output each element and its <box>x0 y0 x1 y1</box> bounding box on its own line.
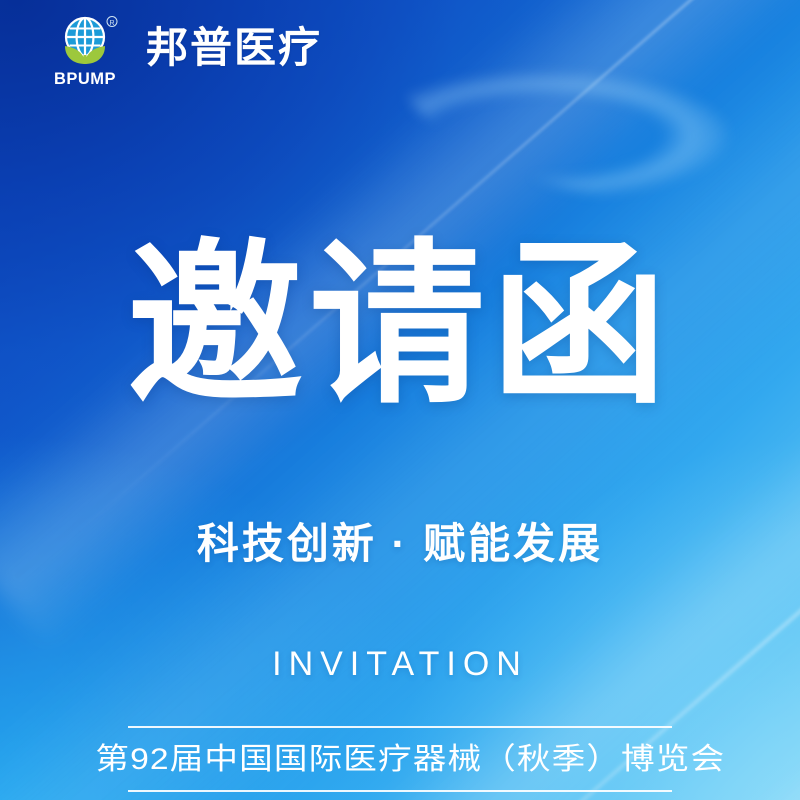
bpump-wordmark: BPUMP <box>54 70 116 88</box>
page-title: 邀请函 <box>0 238 800 414</box>
main-title-block: 邀请函 <box>0 238 800 414</box>
registered-trademark-icon: R <box>107 17 117 28</box>
svg-text:R: R <box>109 20 114 27</box>
invitation-poster: R BPUMP 邦普医疗 邀请函 科技创新 · 赋能发展 INVITATION … <box>0 0 800 800</box>
bpump-logo: R BPUMP <box>52 14 126 88</box>
slogan: 科技创新 · 赋能发展 <box>0 510 800 571</box>
poster-header: R BPUMP 邦普医疗 <box>0 0 800 100</box>
brand-name: 邦普医疗 <box>146 27 322 69</box>
event-name: 第92届中国国际医疗器械（秋季）博览会 <box>95 728 704 790</box>
invitation-label: INVITATION <box>0 645 800 684</box>
divider-bottom <box>128 790 672 792</box>
event-footer: 第92届中国国际医疗器械（秋季）博览会 <box>128 726 672 792</box>
